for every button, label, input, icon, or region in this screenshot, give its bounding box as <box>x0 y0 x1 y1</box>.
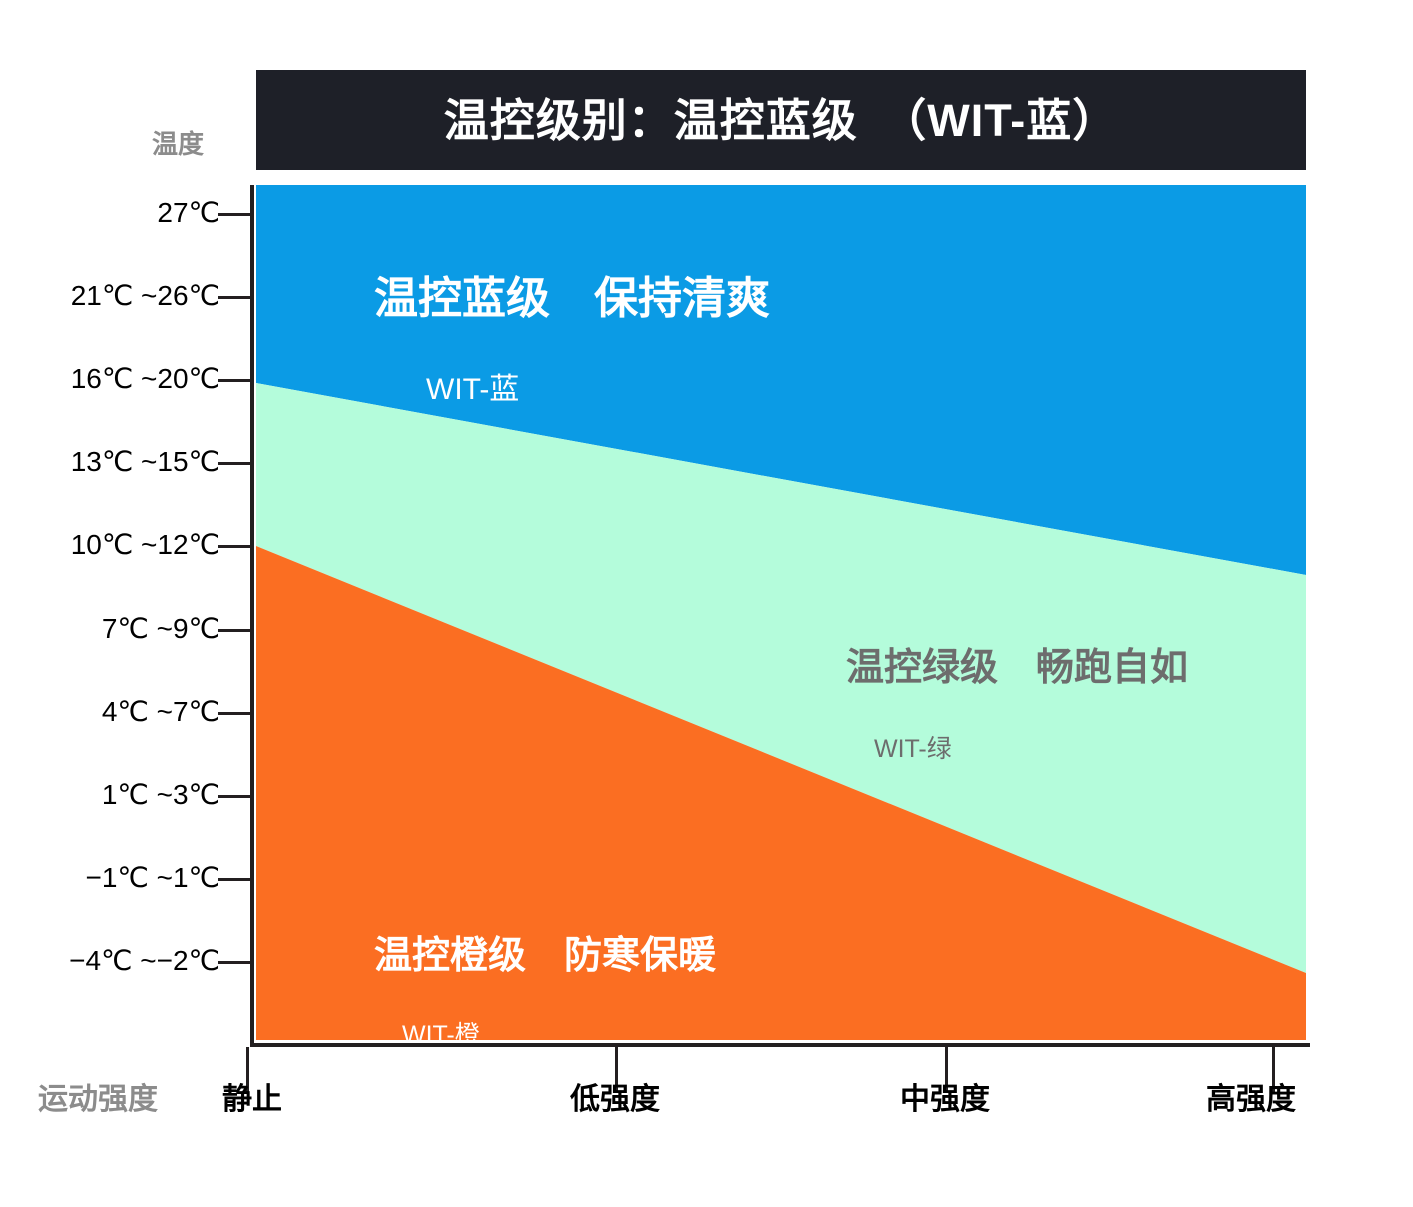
region-label-blue: 温控蓝级 保持清爽 WIT-蓝 <box>374 245 770 437</box>
y-axis-title: 温度 <box>152 131 204 157</box>
page-title: 温控级别：温控蓝级 （WIT-蓝） <box>444 98 1118 143</box>
y-axis-tick-label: 21℃ ~26℃ <box>0 282 220 310</box>
x-axis-tick-label: 低强度 <box>515 1085 715 1115</box>
region-orange-title: 温控橙级 防寒保暖 <box>374 937 716 975</box>
region-green-code: WIT-绿 <box>874 737 1188 762</box>
region-blue-title: 温控蓝级 保持清爽 <box>374 277 770 321</box>
region-label-green: 温控绿级 畅跑自如 WIT-绿 <box>846 617 1188 794</box>
y-axis-tick <box>218 213 252 216</box>
y-axis-tick <box>218 545 252 548</box>
x-axis-tick-label: 高强度 <box>1096 1085 1296 1115</box>
y-axis-tick <box>218 712 252 715</box>
y-axis-tick <box>218 379 252 382</box>
y-axis-tick-label: 4℃ ~7℃ <box>0 698 220 726</box>
y-axis-tick-label: 27℃ <box>0 199 220 227</box>
y-axis-tick <box>218 878 252 881</box>
region-label-orange: 温控橙级 防寒保暖 WIT-橙 <box>374 905 716 1040</box>
chart-plot-area: 温控蓝级 保持清爽 WIT-蓝 温控绿级 畅跑自如 WIT-绿 温控橙级 防寒保… <box>256 185 1306 1040</box>
x-axis-line <box>250 1043 1310 1047</box>
y-axis-tick-label: 1℃ ~3℃ <box>0 781 220 809</box>
y-axis-tick <box>218 296 252 299</box>
y-axis-tick <box>218 629 252 632</box>
region-blue-code: WIT-蓝 <box>426 375 770 405</box>
y-axis-tick-label: −1℃ ~1℃ <box>0 864 220 892</box>
region-green-title: 温控绿级 畅跑自如 <box>846 649 1188 687</box>
y-axis-tick-label: 13℃ ~15℃ <box>0 448 220 476</box>
x-axis-tick-label: 中强度 <box>845 1085 1045 1115</box>
region-orange-code: WIT-橙 <box>402 1023 716 1040</box>
y-axis-tick <box>218 795 252 798</box>
y-axis-line <box>250 185 254 1047</box>
y-axis-tick-label: −4℃ ~−2℃ <box>0 947 220 975</box>
x-axis-title: 运动强度 <box>38 1085 158 1115</box>
x-axis-tick-label: 静止 <box>222 1085 422 1115</box>
y-axis-tick-label: 7℃ ~9℃ <box>0 615 220 643</box>
chart-title-bar: 温控级别：温控蓝级 （WIT-蓝） <box>256 70 1306 170</box>
y-axis-tick-label: 10℃ ~12℃ <box>0 531 220 559</box>
y-axis-tick-label: 16℃ ~20℃ <box>0 365 220 393</box>
y-axis-tick <box>218 961 252 964</box>
y-axis-tick <box>218 462 252 465</box>
